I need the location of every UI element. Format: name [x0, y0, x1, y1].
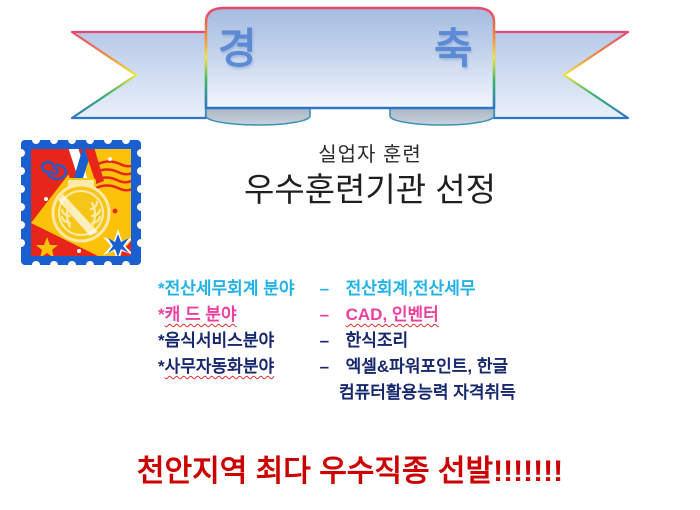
page-title: 우수훈련기관 선정 [150, 171, 590, 209]
course-item-2: * 음식서비스분야 – 한식조리 [158, 328, 638, 354]
course-list: * 전산세무회계 분야 – 전산회계,전산세무 * 캐 드 분야 – CAD, … [158, 276, 638, 406]
course-label: 캐 드 분야 [165, 302, 320, 328]
award-medal-stamp-icon [18, 137, 144, 268]
course-value-continuation: 컴퓨터활용능력 자격취득 [339, 380, 638, 406]
course-dash: – [320, 354, 346, 380]
course-dash: – [320, 302, 346, 328]
heading-subtitle: 실업자 훈련 [150, 143, 590, 167]
course-item-0: * 전산세무회계 분야 – 전산회계,전산세무 [158, 276, 638, 302]
course-value: 엑셀&파워포인트, 한글 [346, 354, 508, 380]
course-dash: – [320, 276, 346, 302]
course-item-3: * 사무자동화분야 – 엑셀&파워포인트, 한글 컴퓨터활용능력 자격취득 [158, 354, 638, 406]
course-bullet: * [158, 276, 165, 302]
course-dash: – [320, 328, 346, 354]
course-value: 한식조리 [346, 328, 409, 354]
medal-disc [53, 185, 109, 241]
course-label: 음식서비스분야 [165, 328, 320, 354]
course-bullet: * [158, 354, 165, 380]
banner-char-right: 축 [434, 28, 474, 70]
course-bullet: * [158, 302, 165, 328]
course-label: 전산세무회계 분야 [165, 276, 320, 302]
banner-char-left: 경 [218, 28, 258, 70]
course-value: 전산회계,전산세무 [346, 276, 476, 302]
course-bullet: * [158, 328, 165, 354]
footer-headline: 천안지역 최다 우수직종 선발!!!!!!! [0, 446, 700, 490]
heading-block: 실업자 훈련 우수훈련기관 선정 [150, 143, 590, 209]
stamp-dot-red [113, 209, 118, 214]
celebration-ribbon-banner: 경 축 [0, 0, 700, 130]
course-item-1: * 캐 드 분야 – CAD, 인벤터 [158, 302, 638, 328]
course-value: CAD, 인벤터 [346, 302, 439, 328]
course-label: 사무자동화분야 [165, 354, 320, 380]
banner-right-wing [494, 32, 628, 118]
banner-left-wing [72, 32, 206, 118]
